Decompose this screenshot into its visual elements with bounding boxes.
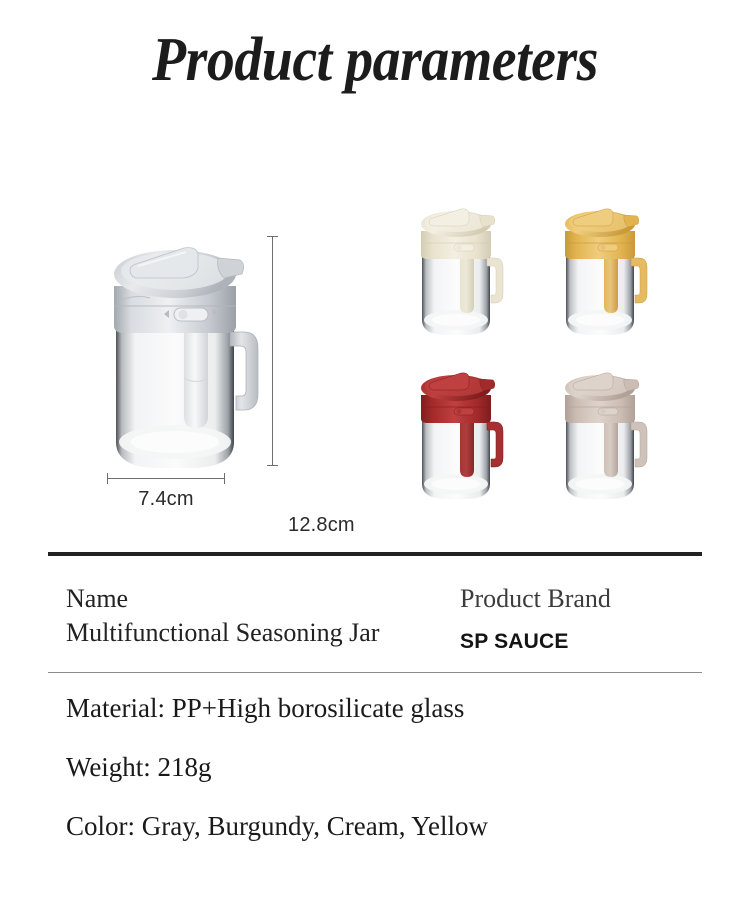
spec-line-weight: Weight: 218g <box>66 754 702 781</box>
width-dimension-line <box>107 478 225 480</box>
handle <box>230 332 258 410</box>
spec-line-material: Material: PP+High borosilicate glass <box>66 695 702 722</box>
dip-tube <box>460 255 474 313</box>
color-variant-yellow <box>552 198 656 346</box>
hero-product-image <box>92 228 272 488</box>
seasoning-jar-illustration <box>408 198 512 346</box>
brand-value: SP SAUCE <box>460 630 702 654</box>
spec-lines: Material: PP+High borosilicate glass Wei… <box>48 673 702 840</box>
product-gallery: 12.8cm 7.4cm <box>0 150 750 540</box>
name-value: Multifunctional Seasoning Jar <box>66 616 438 650</box>
spec-line-color: Color: Gray, Burgundy, Cream, Yellow <box>66 813 702 840</box>
spout <box>218 258 244 278</box>
width-dimension-label: 7.4cm <box>107 488 225 511</box>
dip-tube <box>184 326 208 428</box>
seasoning-jar-illustration <box>552 362 656 510</box>
brand-cell: Product Brand SP SAUCE <box>438 582 702 654</box>
brand-label: Product Brand <box>460 582 702 616</box>
seasoning-jar-illustration <box>408 362 512 510</box>
seasoning-jar-illustration <box>552 198 656 346</box>
dip-tube <box>604 419 618 477</box>
spec-table: Name Multifunctional Seasoning Jar Produ… <box>48 552 702 840</box>
color-variant-burgundy <box>408 362 512 510</box>
name-cell: Name Multifunctional Seasoning Jar <box>66 582 438 650</box>
seasoning-jar-illustration <box>92 228 272 488</box>
height-dimension-line <box>272 236 274 466</box>
color-variant-cream <box>408 198 512 346</box>
height-dimension-label: 12.8cm <box>288 514 355 537</box>
dip-tube <box>604 255 618 313</box>
page-title: Product parameters <box>38 28 713 93</box>
name-label: Name <box>66 582 438 616</box>
color-variant-taupe <box>552 362 656 510</box>
table-row-name-brand: Name Multifunctional Seasoning Jar Produ… <box>48 556 702 672</box>
dip-tube <box>460 419 474 477</box>
